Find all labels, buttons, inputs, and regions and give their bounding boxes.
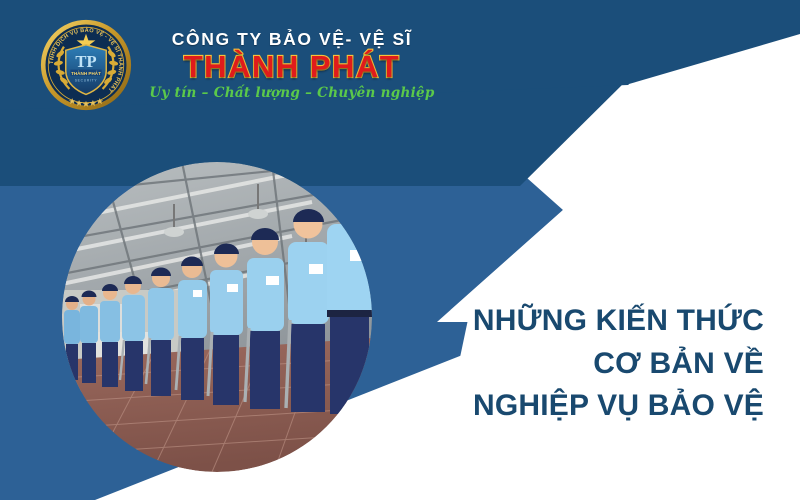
security-guards-formation-photo <box>62 162 372 472</box>
company-shield-badge-logo: CÔNG TY TNHH DỊCH VỤ BẢO VỆ - VỆ SĨ THÀN… <box>40 19 132 111</box>
headline-line-3: NGHIỆP VỤ BẢO VỆ <box>374 385 764 428</box>
brand-slogan: Uy tín – Chất lượng – Chuyên nghiệp <box>144 85 440 101</box>
page-title: NHỮNG KIẾN THỨC CƠ BẢN VỀ NGHIỆP VỤ BẢO … <box>374 300 764 428</box>
brand-header: CÔNG TY TNHH DỊCH VỤ BẢO VỆ - VỆ SĨ THÀN… <box>40 12 440 117</box>
brand-name-wrap: THÀNH PHÁT <box>144 51 440 82</box>
headline-line-1: NHỮNG KIẾN THỨC <box>374 300 764 343</box>
badge-shield-text: THÀNH PHÁT <box>71 69 101 75</box>
photo-illustration <box>62 162 372 472</box>
company-line: CÔNG TY BẢO VỆ- VỆ SĨ <box>144 30 440 48</box>
photo-content <box>62 162 372 472</box>
brand-text-block: CÔNG TY BẢO VỆ- VỆ SĨ THÀNH PHÁT Uy tín … <box>144 28 440 101</box>
badge-monogram: TP <box>75 51 96 70</box>
brand-name: THÀNH PHÁT <box>184 51 401 82</box>
headline-line-2: CƠ BẢN VỀ <box>374 343 764 386</box>
badge-shield-subtext: SECURITY <box>75 78 98 82</box>
poster-canvas: CÔNG TY TNHH DỊCH VỤ BẢO VỆ - VỆ SĨ THÀN… <box>0 0 800 500</box>
